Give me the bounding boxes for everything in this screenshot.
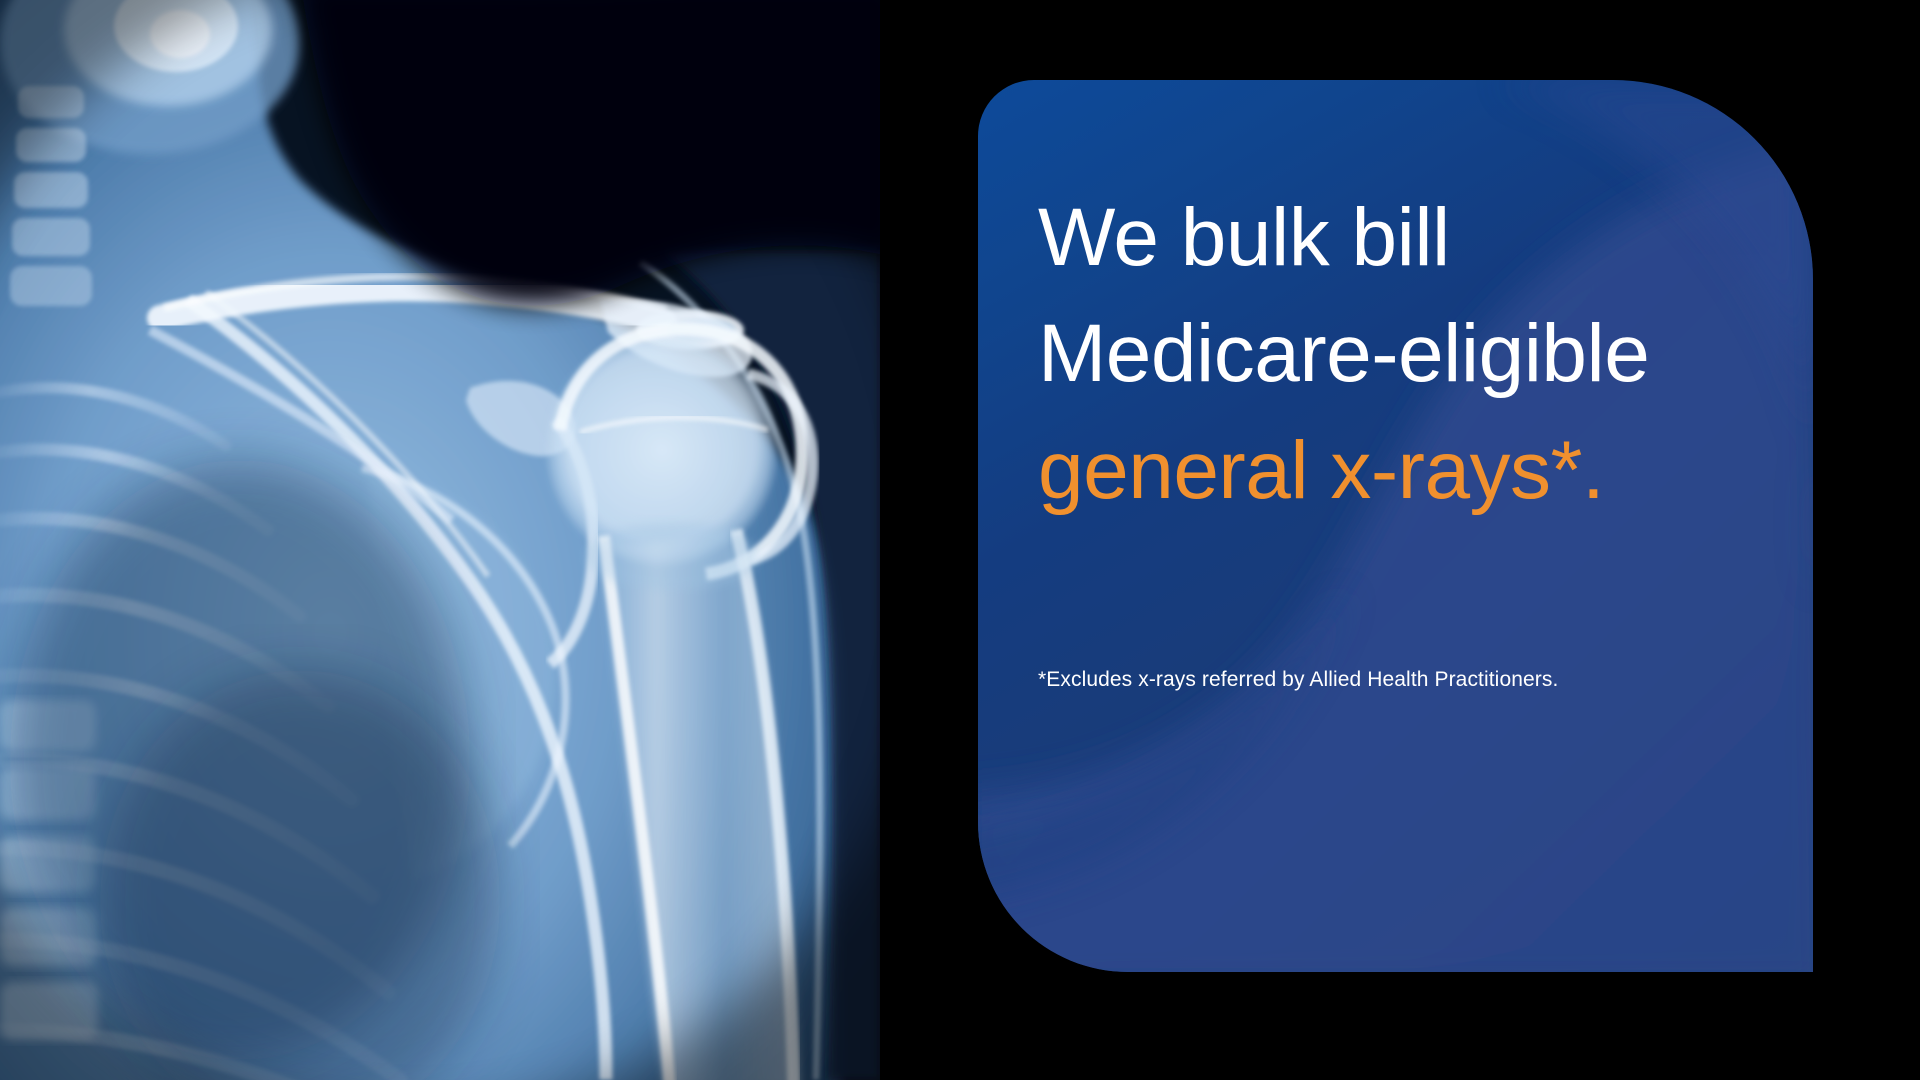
card-footnote: *Excludes x-rays referred by Allied Heal… [1038, 665, 1768, 694]
xray-illustration [0, 0, 880, 1080]
headline-accent-segment: general x-rays*. [1038, 425, 1604, 516]
bulk-bill-info-card: We bulk bill Medicare-eligible general x… [978, 80, 1813, 972]
card-headline: We bulk bill Medicare-eligible general x… [1038, 180, 1758, 529]
headline-white-segment: We bulk bill Medicare-eligible [1038, 192, 1672, 399]
banner-stage: We bulk bill Medicare-eligible general x… [0, 0, 1920, 1080]
xray-image-panel [0, 0, 880, 1080]
